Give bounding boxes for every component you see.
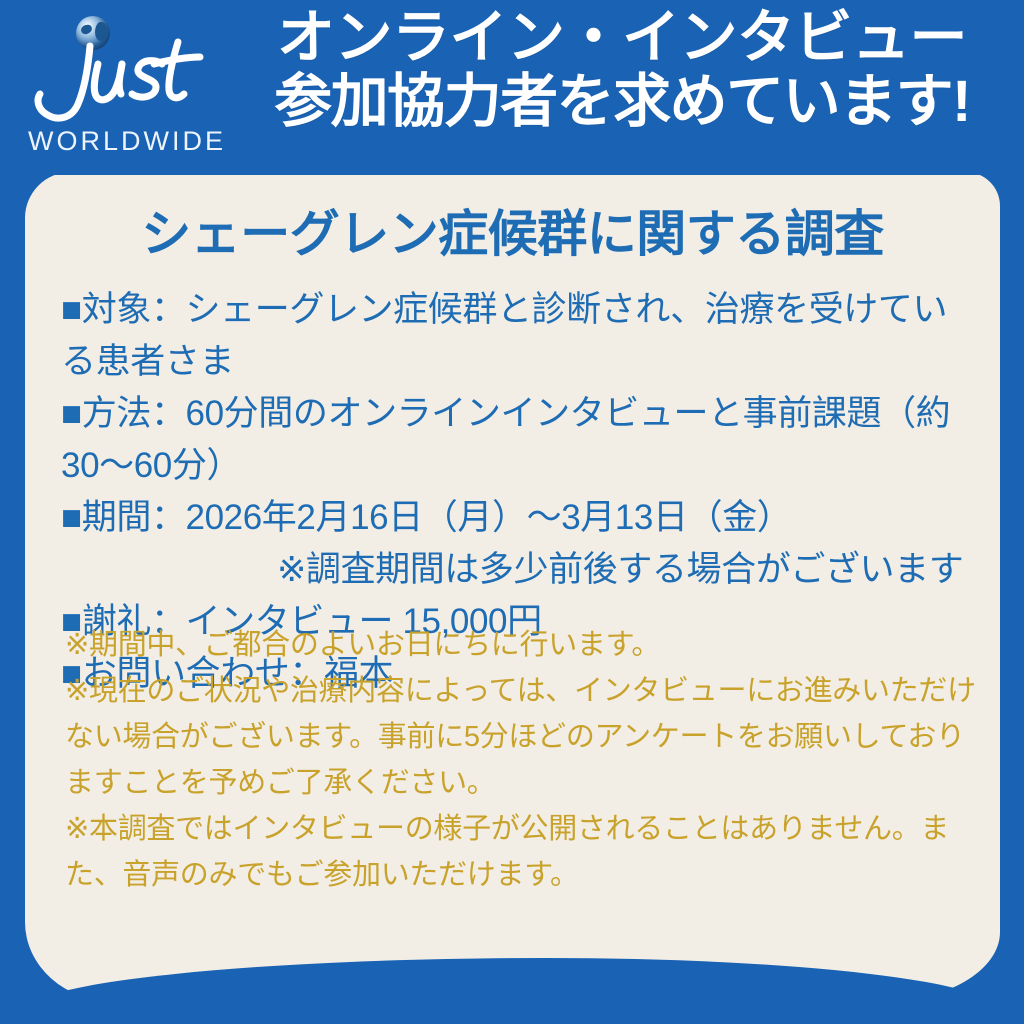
detail-line-method: ■方法：60分間のオンラインインタビューと事前課題（約30〜60分） [61,388,971,492]
note-line: ※期間中、ご都合のよいお日にちに行います。 [65,622,985,668]
poster-headline: オンライン・インタビュー 参加協力者を求めています! [232,8,1012,133]
poster-header: WORLDWIDE オンライン・インタビュー 参加協力者を求めています! [0,0,1024,175]
note-line: ※現在のご状況や治療内容によっては、インタビューにお進みいただけない場合がござい… [65,668,985,806]
logo-wordmark-just [22,28,222,124]
brand-logo: WORLDWIDE [22,14,222,162]
note-line: ※本調査ではインタビューの様子が公開されることはありません。また、音声のみでもご… [65,806,985,898]
detail-line-target: ■対象：シェーグレン症候群と診断され、治療を受けている患者さま [61,284,971,388]
detail-line-period-note: ※調査期間は多少前後する場合がございます [61,544,971,596]
survey-notes: ※期間中、ご都合のよいお日にちに行います。※現在のご状況や治療内容によっては、イ… [65,622,985,898]
headline-line-1: オンライン・インタビュー [232,8,1012,68]
headline-line-2: 参加協力者を求めています! [232,72,1012,132]
detail-line-period: ■期間：2026年2月16日（月）〜3月13日（金） [61,492,971,544]
content-card-inner: シェーグレン症候群に関する調査 ■対象：シェーグレン症候群と診断され、治療を受け… [25,172,1000,1002]
survey-title: シェーグレン症候群に関する調査 [25,194,1000,266]
content-card: シェーグレン症候群に関する調査 ■対象：シェーグレン症候群と診断され、治療を受け… [25,172,1000,1002]
logo-subtitle: WORLDWIDE [28,126,226,157]
